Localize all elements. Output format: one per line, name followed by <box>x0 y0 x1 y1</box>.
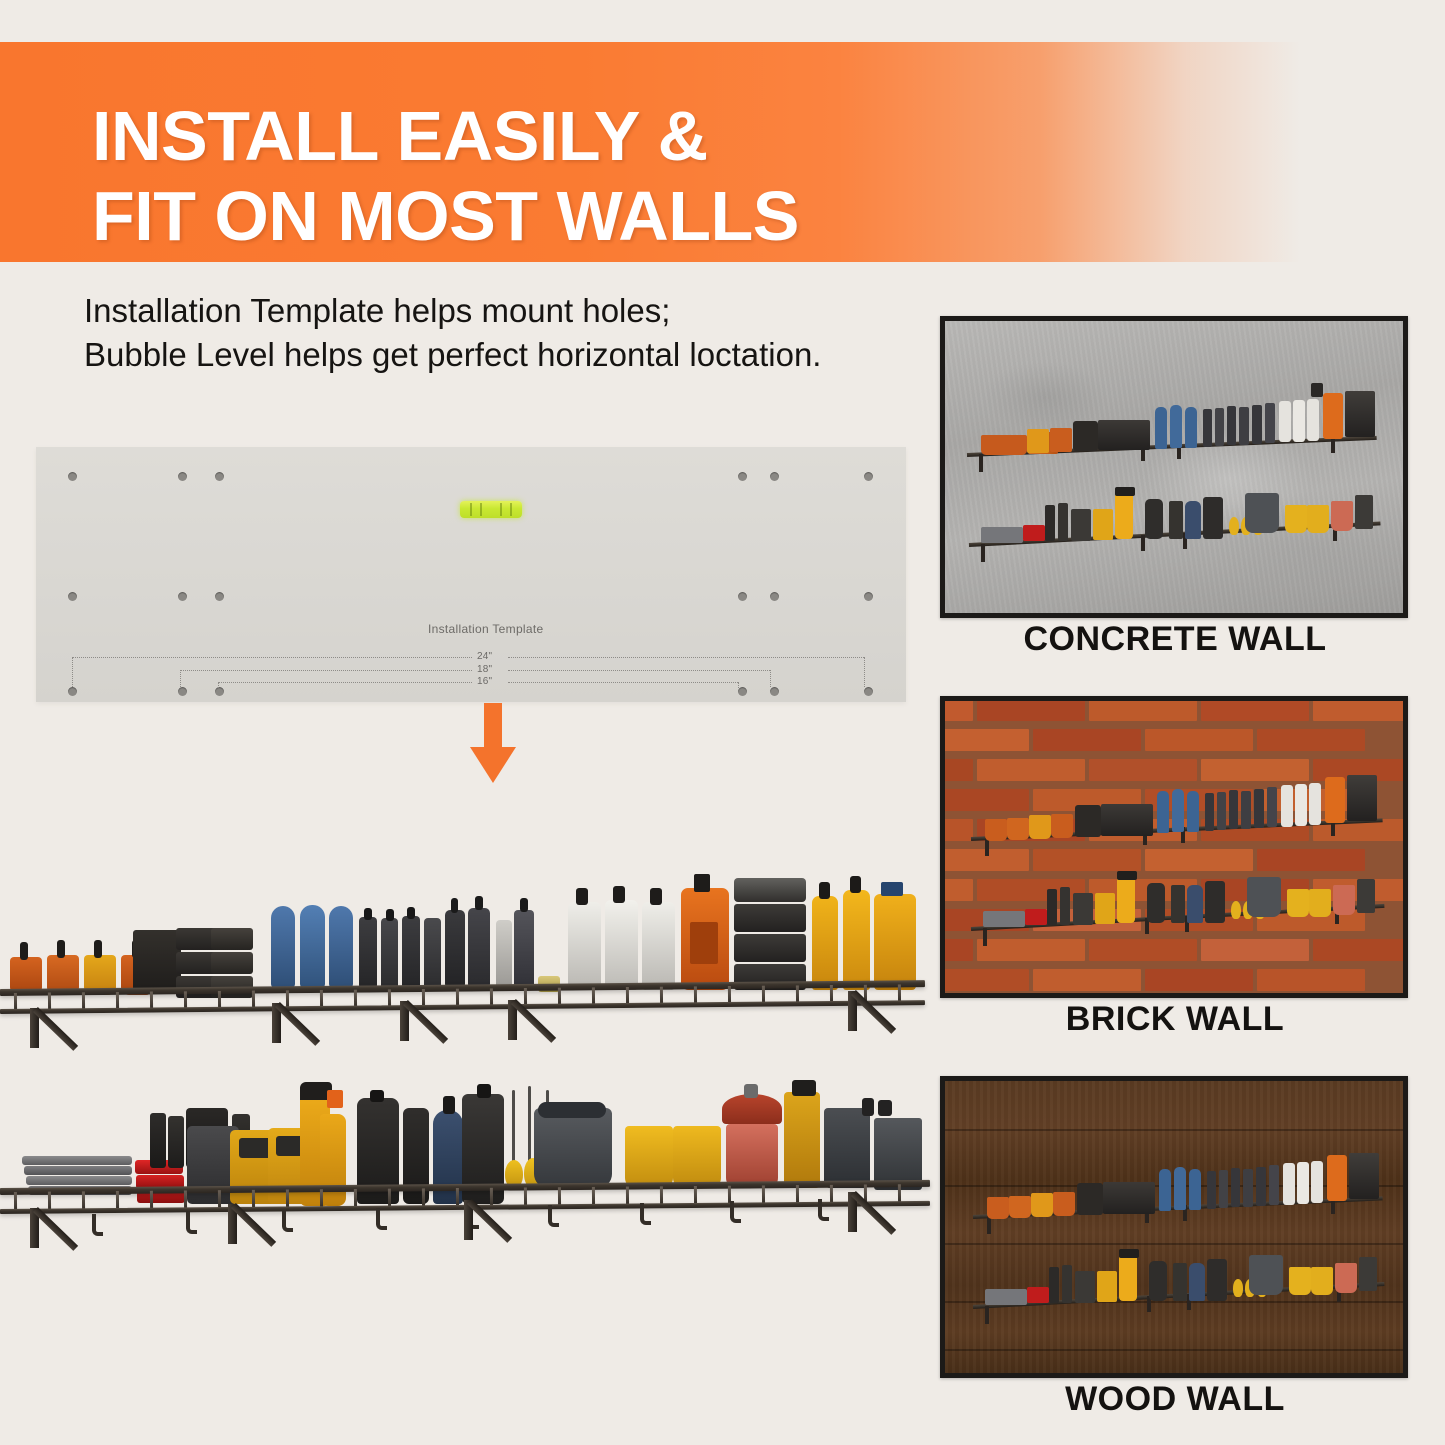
mini-item <box>1185 407 1197 448</box>
mini-item <box>1219 1170 1228 1208</box>
mount-hole <box>864 472 873 481</box>
arrow-stem <box>484 703 502 749</box>
mini-item <box>1093 509 1113 540</box>
shelf-hook <box>730 1201 741 1223</box>
mini-item <box>1227 406 1236 445</box>
mini-item <box>1355 495 1373 529</box>
mini-item <box>987 1197 1009 1219</box>
list-item <box>881 882 903 896</box>
mini-item <box>1027 429 1049 453</box>
list-item <box>694 874 710 892</box>
mini-item <box>1241 791 1251 829</box>
mini-bracket <box>985 1306 989 1324</box>
list-item <box>792 1080 816 1096</box>
list-item <box>26 1176 132 1185</box>
mini-item <box>1053 1192 1075 1216</box>
mini-item <box>1117 871 1137 880</box>
list-item <box>211 928 253 950</box>
list-item <box>168 1116 184 1168</box>
list-item <box>673 1126 721 1188</box>
mini-item <box>1172 789 1184 832</box>
list-item <box>451 898 458 913</box>
mini-item <box>1050 428 1072 452</box>
brick-texture <box>945 701 1403 993</box>
list-item <box>812 896 838 990</box>
mini-item <box>1031 1193 1053 1217</box>
mini-bracket <box>1331 437 1335 453</box>
mini-item <box>1311 1267 1333 1295</box>
list-item <box>819 882 830 899</box>
template-surface <box>36 447 906 702</box>
dimension-line-24 <box>72 657 472 658</box>
mount-hole <box>68 687 77 696</box>
mini-item <box>1327 1155 1347 1201</box>
infographic-canvas: INSTALL EASILY & FIT ON MOST WALLS Insta… <box>0 0 1445 1445</box>
mini-item <box>1311 1161 1323 1203</box>
mini-item <box>1279 401 1291 442</box>
mini-item <box>1149 1261 1167 1301</box>
list-item <box>734 934 806 962</box>
mini-item <box>1119 1251 1137 1301</box>
list-item <box>133 930 181 992</box>
mini-item <box>1229 790 1238 829</box>
arrow-head <box>470 747 516 783</box>
dimension-line-16 <box>218 682 472 683</box>
list-item <box>386 909 394 921</box>
list-item <box>734 878 806 902</box>
mini-item <box>1101 804 1153 836</box>
mount-hole <box>215 472 224 481</box>
mount-hole <box>738 472 747 481</box>
mount-hole <box>864 592 873 601</box>
list-item <box>512 1090 515 1162</box>
mount-hole <box>738 687 747 696</box>
mini-item <box>1205 881 1225 923</box>
list-item <box>150 1113 166 1168</box>
list-item <box>211 952 253 974</box>
mount-hole <box>770 472 779 481</box>
mini-item <box>1307 505 1329 533</box>
dimension-tick-16 <box>738 682 739 688</box>
list-item <box>824 1108 870 1188</box>
mount-hole <box>215 687 224 696</box>
mini-item <box>1075 805 1101 837</box>
mini-item <box>1207 1171 1216 1209</box>
mini-item <box>1115 487 1135 496</box>
main-upper-shelf-scene <box>0 860 940 1040</box>
concrete-texture <box>945 321 1403 613</box>
mini-item <box>1147 883 1165 923</box>
mini-item <box>1323 393 1343 439</box>
mini-item <box>1174 1167 1186 1210</box>
dimension-label-18: 18" <box>477 664 492 675</box>
mini-item <box>1265 403 1275 443</box>
shelf-hook <box>282 1210 293 1232</box>
mini-item <box>985 1289 1027 1305</box>
shelf-hook <box>818 1199 829 1221</box>
mini-item <box>983 911 1025 927</box>
page-title: INSTALL EASILY & FIT ON MOST WALLS <box>92 96 1192 256</box>
mini-item <box>1295 784 1307 826</box>
mini-item <box>1359 1257 1377 1291</box>
shelf-hook <box>376 1208 387 1230</box>
list-item <box>407 907 415 919</box>
mini-item <box>1349 1153 1379 1199</box>
mini-item <box>1252 405 1262 444</box>
subtitle-text: Installation Template helps mount holes;… <box>84 289 984 377</box>
mini-item <box>1307 399 1319 441</box>
dimension-tick-16 <box>218 682 219 688</box>
mount-hole <box>178 592 187 601</box>
dimension-tick-18 <box>180 670 181 687</box>
mini-bracket <box>983 928 987 946</box>
dimension-line-24 <box>508 657 864 658</box>
list-item <box>520 898 528 912</box>
mount-hole <box>864 687 873 696</box>
mini-item <box>1073 421 1098 451</box>
mini-item <box>1189 1263 1205 1301</box>
list-item <box>576 888 588 905</box>
mini-item <box>985 819 1007 841</box>
mini-item <box>1243 1169 1253 1207</box>
mini-item <box>1051 814 1073 838</box>
mini-item <box>1269 1165 1279 1205</box>
mini-item <box>1155 407 1167 449</box>
mini-item <box>1187 791 1199 832</box>
shelf-bracket <box>228 1204 274 1244</box>
dimension-tick-24 <box>72 657 73 687</box>
mini-item <box>1309 889 1331 917</box>
mini-item <box>1058 503 1068 541</box>
mini-item <box>1325 777 1345 823</box>
shelf-bracket <box>30 1208 76 1248</box>
mini-item <box>1207 1259 1227 1301</box>
mount-hole <box>770 687 779 696</box>
mini-item <box>1049 1267 1059 1303</box>
mount-hole <box>770 592 779 601</box>
down-arrow-icon <box>470 703 516 783</box>
mini-item <box>1245 493 1279 533</box>
mini-item <box>1267 787 1277 827</box>
mini-item <box>1289 1267 1311 1295</box>
wood-texture <box>945 1081 1403 1373</box>
list-item <box>642 902 675 990</box>
mount-hole <box>178 687 187 696</box>
list-item <box>24 1166 132 1175</box>
mini-item <box>1205 793 1214 831</box>
mini-item <box>1025 909 1047 925</box>
list-item <box>534 1108 612 1188</box>
list-item <box>300 905 325 988</box>
bubble-level-icon <box>460 501 522 518</box>
mini-item <box>1095 893 1115 924</box>
mini-bracket <box>979 454 983 472</box>
mount-hole <box>68 472 77 481</box>
mini-item <box>1060 887 1070 925</box>
list-item <box>359 917 377 989</box>
mount-hole <box>215 592 224 601</box>
list-item <box>878 1100 892 1116</box>
shelf-hook <box>92 1214 103 1236</box>
mini-item <box>1215 408 1224 446</box>
mini-item <box>1045 505 1055 541</box>
list-item <box>475 896 483 910</box>
dimension-line-18 <box>508 670 770 671</box>
mini-item <box>1293 400 1305 442</box>
mini-item <box>1311 383 1323 397</box>
list-item <box>625 1126 673 1188</box>
shelf-bracket <box>464 1200 510 1240</box>
mini-item <box>981 435 1027 455</box>
mini-item <box>1157 791 1169 833</box>
shelf-hook <box>548 1205 559 1227</box>
mini-item <box>1097 1271 1117 1302</box>
list-item <box>370 1090 384 1102</box>
list-item <box>538 1102 606 1118</box>
list-item <box>20 942 28 960</box>
wall-photo-concrete <box>940 316 1408 618</box>
mini-item <box>1009 1196 1031 1218</box>
mini-item <box>1062 1265 1072 1303</box>
shelf-hook <box>640 1203 651 1225</box>
mini-item <box>1073 893 1093 925</box>
mini-item <box>981 527 1023 543</box>
list-item <box>528 1086 531 1162</box>
mini-item <box>1189 1169 1201 1210</box>
list-item <box>843 890 870 990</box>
list-item <box>862 1098 874 1116</box>
list-item <box>329 906 353 988</box>
dimension-label-24: 24" <box>477 651 492 662</box>
mount-hole <box>178 472 187 481</box>
mini-item <box>1231 901 1241 919</box>
dimension-label-16: 16" <box>477 676 492 687</box>
dimension-line-18 <box>180 670 472 671</box>
shelf-bracket <box>848 1192 894 1232</box>
mini-item <box>1145 499 1163 539</box>
list-item <box>271 906 295 988</box>
mini-item <box>1173 1263 1187 1301</box>
list-item <box>726 1124 778 1188</box>
dimension-tick-18 <box>770 670 771 687</box>
shelf-bracket <box>508 1000 554 1040</box>
list-item <box>327 1090 343 1108</box>
list-item <box>364 908 372 920</box>
mini-item <box>1071 509 1091 541</box>
mini-item <box>1333 885 1355 915</box>
list-item <box>445 910 465 989</box>
mini-item <box>1098 420 1150 450</box>
list-item <box>424 918 441 989</box>
mini-item <box>1119 1249 1139 1258</box>
mini-item <box>1281 785 1293 827</box>
shelf-bracket <box>400 1001 446 1041</box>
template-label: Installation Template <box>428 622 543 636</box>
mini-item <box>1347 775 1377 821</box>
main-lower-shelf-scene <box>0 1068 940 1268</box>
shelf-bracket <box>30 1008 76 1048</box>
list-item <box>568 902 601 990</box>
list-item <box>94 940 102 958</box>
wall-photo-brick <box>940 696 1408 998</box>
list-item <box>690 922 718 964</box>
mini-item <box>1187 885 1203 923</box>
mini-item <box>1027 1287 1049 1303</box>
mini-item <box>1357 879 1375 913</box>
list-item <box>496 920 512 989</box>
mini-item <box>1231 1168 1240 1207</box>
list-item <box>874 894 916 990</box>
list-item <box>850 876 861 893</box>
mini-item <box>1075 1271 1095 1303</box>
mini-item <box>1256 1167 1266 1206</box>
mini-item <box>1169 501 1183 539</box>
caption-brick-wall: BRICK WALL <box>940 1000 1410 1039</box>
shelf-bracket <box>272 1003 318 1043</box>
list-item <box>613 886 625 903</box>
mini-item <box>1297 1162 1309 1204</box>
mini-item <box>1331 501 1353 531</box>
mini-item <box>1103 1182 1155 1214</box>
mini-item <box>1117 873 1135 923</box>
list-item <box>443 1096 455 1114</box>
mini-item <box>1335 1263 1357 1293</box>
list-item <box>514 910 534 989</box>
list-item <box>468 908 490 989</box>
mini-item <box>1285 505 1307 533</box>
mini-item <box>1185 501 1201 539</box>
list-item <box>381 918 398 989</box>
list-item <box>402 916 420 989</box>
list-item <box>744 1084 758 1098</box>
mini-item <box>1077 1183 1103 1215</box>
mini-item <box>1047 889 1057 925</box>
mini-item <box>1171 885 1185 923</box>
mini-item <box>1287 889 1309 917</box>
mini-item <box>1159 1169 1171 1211</box>
mini-item <box>1233 1279 1243 1297</box>
mini-item <box>1254 789 1264 828</box>
mini-item <box>1007 818 1029 840</box>
list-item <box>784 1092 820 1188</box>
mini-item <box>1029 815 1051 839</box>
mount-hole <box>68 592 77 601</box>
dimension-line-16 <box>508 682 738 683</box>
list-item <box>57 940 65 958</box>
mini-item <box>1229 517 1239 535</box>
mini-bracket <box>1141 535 1145 551</box>
caption-wood-wall: WOOD WALL <box>940 1380 1410 1419</box>
mini-item <box>1239 407 1249 445</box>
list-item <box>22 1156 132 1165</box>
mini-item <box>1023 525 1045 541</box>
list-item <box>722 1094 782 1124</box>
mini-item <box>1203 409 1212 447</box>
mini-item <box>1115 489 1133 539</box>
list-item <box>650 888 662 905</box>
mini-item <box>1170 405 1182 448</box>
wall-photo-wood <box>940 1076 1408 1378</box>
list-item <box>605 900 638 990</box>
header-banner: INSTALL EASILY & FIT ON MOST WALLS <box>0 42 1445 262</box>
mount-hole <box>738 592 747 601</box>
shelf-bracket <box>848 991 894 1031</box>
shelf-hook <box>186 1212 197 1234</box>
dimension-tick-24 <box>864 657 865 687</box>
mini-item <box>1249 1255 1283 1295</box>
mini-item <box>1203 497 1223 539</box>
mini-bracket <box>981 544 985 562</box>
list-item <box>477 1084 491 1098</box>
installation-template-panel <box>36 447 906 702</box>
mini-item <box>1309 783 1321 825</box>
mini-item <box>1217 792 1226 830</box>
caption-concrete-wall: CONCRETE WALL <box>940 620 1410 659</box>
mini-item <box>1283 1163 1295 1205</box>
list-item <box>734 904 806 932</box>
mini-item <box>1345 391 1375 437</box>
mini-item <box>1247 877 1281 917</box>
